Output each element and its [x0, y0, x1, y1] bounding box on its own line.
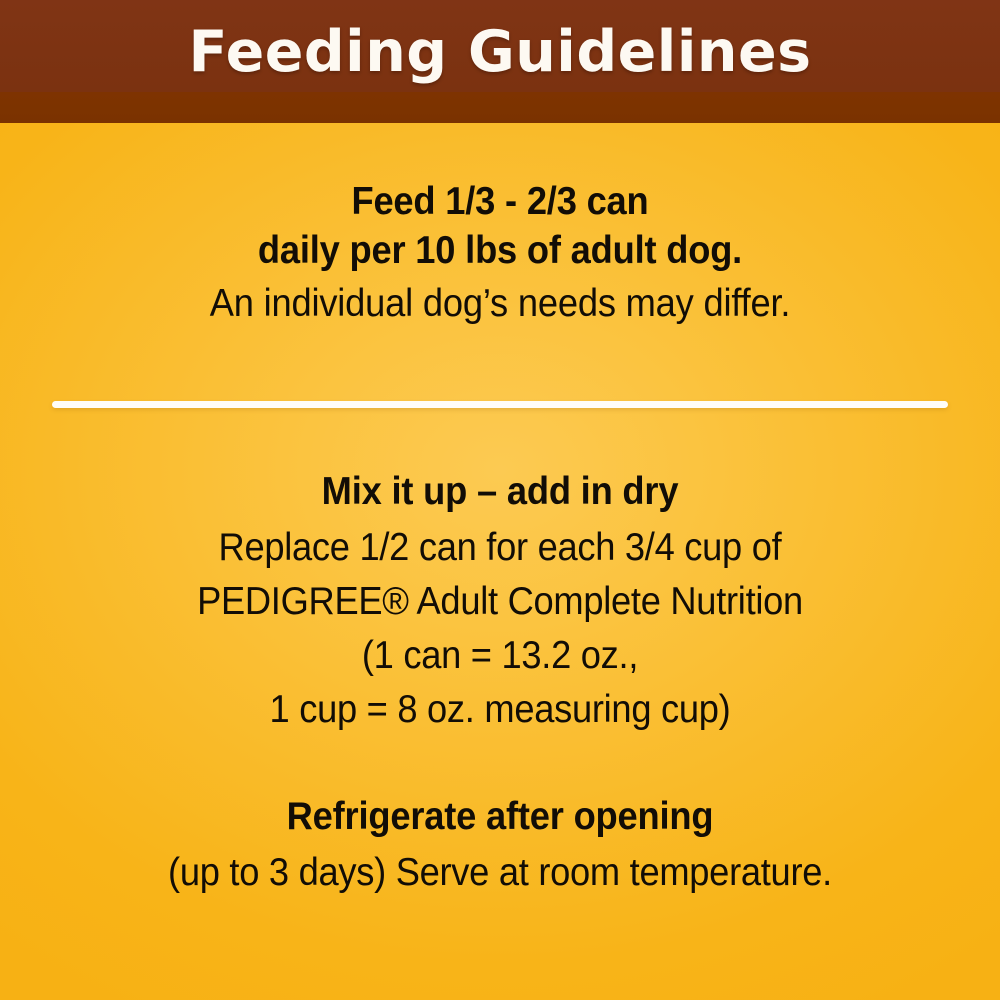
- section-divider: [52, 401, 948, 408]
- page-title: Feeding Guidelines: [0, 0, 1000, 105]
- mix-it-up-heading: Mix it up – add in dry: [35, 463, 965, 521]
- mix-it-up-line-1: Replace 1/2 can for each 3/4 cup of: [35, 521, 965, 575]
- daily-feeding-line-3: An individual dog’s needs may differ.: [35, 275, 965, 333]
- daily-feeding-line-2: daily per 10 lbs of adult dog.: [35, 226, 965, 275]
- mix-it-up-line-3: (1 can = 13.2 oz.,: [35, 629, 965, 683]
- daily-feeding-line-1: Feed 1/3 - 2/3 can: [35, 177, 965, 226]
- refrigerate-heading: Refrigerate after opening: [35, 789, 965, 845]
- refrigerate-line-1: (up to 3 days) Serve at room temperature…: [35, 845, 965, 901]
- section-mix-it-up: Mix it up – add in dry Replace 1/2 can f…: [0, 463, 1000, 737]
- mix-it-up-line-2: PEDIGREE® Adult Complete Nutrition: [35, 575, 965, 629]
- section-refrigerate: Refrigerate after opening (up to 3 days)…: [0, 789, 1000, 901]
- mix-it-up-line-4: 1 cup = 8 oz. measuring cup): [35, 683, 965, 737]
- guidelines-content: Feed 1/3 - 2/3 can daily per 10 lbs of a…: [0, 123, 1000, 1000]
- feeding-guidelines-panel: Feeding Guidelines Feed 1/3 - 2/3 can da…: [0, 0, 1000, 1000]
- section-daily-feeding: Feed 1/3 - 2/3 can daily per 10 lbs of a…: [0, 177, 1000, 333]
